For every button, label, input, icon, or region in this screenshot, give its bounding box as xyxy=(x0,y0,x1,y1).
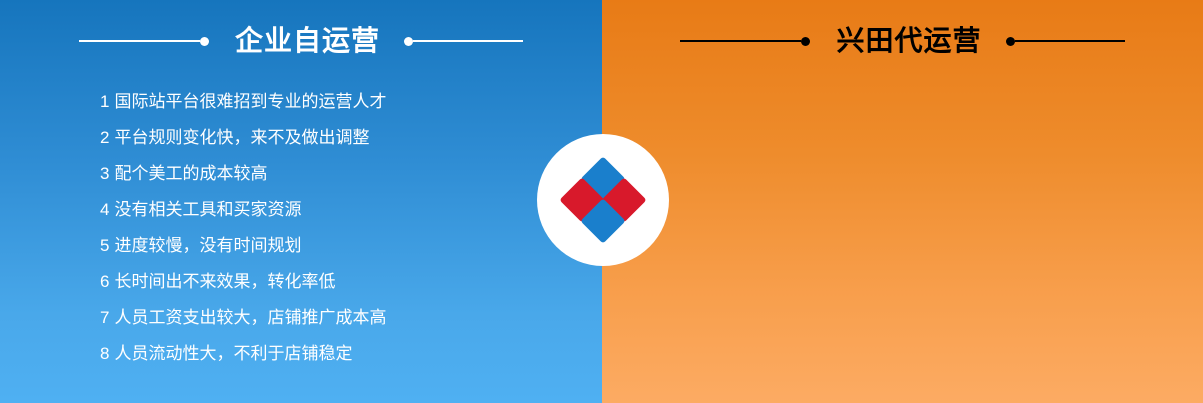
header-dot-right xyxy=(404,37,413,46)
header-dot-left xyxy=(200,37,209,46)
right-panel-agency-operated: 兴田代运营 1运营人才：专业代运营十年，经验丰富 2最新规则：每天接触平台，新规… xyxy=(602,0,1203,403)
list-item-label: 平台规则变化快，来不及做出调整 xyxy=(114,128,369,147)
list-item-label: 人员流动性大，不利于店铺稳定 xyxy=(114,344,352,363)
list-item: 1国际站平台很难招到专业的运营人才 xyxy=(100,84,520,120)
list-item-label: 人员工资支出较大，店铺推广成本高 xyxy=(114,308,386,327)
right-panel-header: 兴田代运营 xyxy=(602,23,1203,59)
comparison-banner: 企业自运营 1国际站平台很难招到专业的运营人才 2平台规则变化快，来不及做出调整… xyxy=(0,0,1203,403)
list-item-number: 1 xyxy=(100,84,109,120)
list-item-number: 8 xyxy=(100,336,109,372)
list-item: 3配个美工的成本较高 xyxy=(100,156,520,192)
header-rule-right xyxy=(1015,40,1125,42)
list-item-label: 长时间出不来效果，转化率低 xyxy=(114,272,335,291)
list-item: 2平台规则变化快，来不及做出调整 xyxy=(100,120,520,156)
list-item-number: 5 xyxy=(100,228,109,264)
list-item-label: 进度较慢，没有时间规划 xyxy=(114,236,301,255)
header-rule-right xyxy=(413,40,523,42)
left-panel-self-operated: 企业自运营 1国际站平台很难招到专业的运营人才 2平台规则变化快，来不及做出调整… xyxy=(0,0,602,403)
list-item-label: 国际站平台很难招到专业的运营人才 xyxy=(114,92,386,111)
list-item: 8人员流动性大，不利于店铺稳定 xyxy=(100,336,520,372)
list-item-label: 没有相关工具和买家资源 xyxy=(114,200,301,219)
list-item: 5进度较慢，没有时间规划 xyxy=(100,228,520,264)
list-item: 4没有相关工具和买家资源 xyxy=(100,192,520,228)
left-panel-item-list: 1国际站平台很难招到专业的运营人才 2平台规则变化快，来不及做出调整 3配个美工… xyxy=(100,84,520,372)
header-rule-left xyxy=(79,40,200,42)
list-item-label: 配个美工的成本较高 xyxy=(114,164,267,183)
header-rule-left xyxy=(680,40,801,42)
list-item-number: 6 xyxy=(100,264,109,300)
left-panel-title: 企业自运营 xyxy=(235,27,380,55)
header-dot-left xyxy=(801,37,810,46)
list-item-number: 3 xyxy=(100,156,109,192)
list-item-number: 4 xyxy=(100,192,109,228)
four-diamond-logo-icon xyxy=(566,163,640,237)
left-panel-header: 企业自运营 xyxy=(0,23,602,59)
list-item: 6长时间出不来效果，转化率低 xyxy=(100,264,520,300)
list-item-number: 2 xyxy=(100,120,109,156)
center-logo-badge xyxy=(537,134,669,266)
list-item: 7人员工资支出较大，店铺推广成本高 xyxy=(100,300,520,336)
right-panel-title: 兴田代运营 xyxy=(836,27,981,55)
header-dot-right xyxy=(1006,37,1015,46)
list-item-number: 7 xyxy=(100,300,109,336)
